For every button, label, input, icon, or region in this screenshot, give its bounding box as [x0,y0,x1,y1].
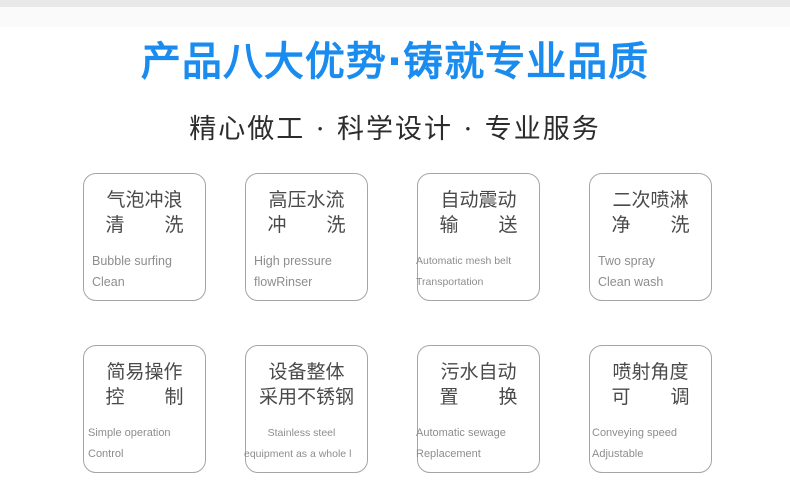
feature-row-bottom: 简易操作 控 制 Simple operation Control 设备整体 采… [83,345,707,473]
feature-title-cn-line1: 设备整体 [254,360,359,385]
feature-subtitle-en-line1: Bubble surfing [92,251,197,272]
feature-subtitle-en-line2: equipment as a whole l [244,444,359,465]
feature-card-simple-operation[interactable]: 简易操作 控 制 Simple operation Control [83,345,206,473]
feature-subtitle-en-line1: Simple operation [88,423,197,444]
page-subtitle: 精心做工 · 科学设计 · 专业服务 [0,112,790,148]
feature-title-cn: 高压水流 冲 洗 [254,188,359,238]
feature-title-cn: 喷射角度 可 调 [598,360,703,410]
page-title: 产品八大优势·铸就专业品质 [0,38,790,86]
feature-subtitle-en: Automatic mesh belt Transportation [416,251,531,293]
feature-row-top: 气泡冲浪 清 洗 Bubble surfing Clean 高压水流 冲 洗 [83,173,707,301]
feature-subtitle-en-line2: flowRinser [254,272,359,293]
feature-subtitle-en-line2: Transportation [416,272,531,293]
feature-subtitle-en-line2: Clean wash [598,272,703,293]
cn-char: 清 [106,213,125,238]
cn-char: 可 [612,385,631,410]
feature-title-cn: 设备整体 采用不锈钢 [254,360,359,410]
cn-char: 制 [164,385,183,410]
feature-subtitle-en-line2: Control [88,444,197,465]
feature-subtitle-en-line2: Replacement [416,444,531,465]
feature-title-cn-line2: 净 洗 [612,213,690,238]
feature-subtitle-en-line1: Conveying speed [592,423,703,444]
feature-title-cn-line2: 可 调 [612,385,690,410]
cn-char: 换 [498,385,517,410]
feature-title-cn-line1: 污水自动 [426,360,531,385]
feature-card-conveying-speed[interactable]: 喷射角度 可 调 Conveying speed Adjustable [589,345,712,473]
feature-title-cn: 简易操作 控 制 [92,360,197,410]
feature-subtitle-en: Two spray Clean wash [598,251,703,293]
cn-char: 洗 [164,213,183,238]
feature-title-cn: 污水自动 置 换 [426,360,531,410]
cn-char: 净 [612,213,631,238]
feature-card-high-pressure-flow[interactable]: 高压水流 冲 洗 High pressure flowRinser [245,173,368,301]
cn-char: 冲 [268,213,287,238]
feature-subtitle-en: Stainless steel equipment as a whole l [244,423,359,465]
top-gray-band [0,0,790,7]
feature-subtitle-en-line1: Two spray [598,251,703,272]
feature-title-cn-line1: 简易操作 [92,360,197,385]
feature-card-two-spray-clean-wash[interactable]: 二次喷淋 净 洗 Two spray Clean wash [589,173,712,301]
feature-subtitle-en-line1: Automatic sewage [416,423,531,444]
feature-title-cn-line2: 控 制 [106,385,184,410]
feature-title-cn-line1: 喷射角度 [598,360,703,385]
feature-card-automatic-mesh-belt[interactable]: 自动震动 输 送 Automatic mesh belt Transportat… [417,173,540,301]
feature-title-cn-line1: 气泡冲浪 [92,188,197,213]
feature-title-cn-line2: 采用不锈钢 [254,385,359,410]
top-light-band [0,7,790,27]
feature-subtitle-en: High pressure flowRinser [254,251,359,293]
feature-subtitle-en-line2: Clean [92,272,197,293]
feature-title-cn: 二次喷淋 净 洗 [598,188,703,238]
feature-title-cn: 气泡冲浪 清 洗 [92,188,197,238]
feature-title-cn-line2: 输 送 [440,213,518,238]
feature-subtitle-en: Conveying speed Adjustable [592,423,703,465]
cn-char: 送 [498,213,517,238]
cn-char: 置 [440,385,459,410]
cn-char: 洗 [670,213,689,238]
feature-subtitle-en: Simple operation Control [88,423,197,465]
feature-subtitle-en: Bubble surfing Clean [92,251,197,293]
feature-card-automatic-sewage[interactable]: 污水自动 置 换 Automatic sewage Replacement [417,345,540,473]
promo-feature-banner: 产品八大优势·铸就专业品质 精心做工 · 科学设计 · 专业服务 气泡冲浪 清 … [0,0,790,485]
feature-subtitle-en-line2: Adjustable [592,444,703,465]
feature-title-cn: 自动震动 输 送 [426,188,531,238]
cn-char: 洗 [326,213,345,238]
feature-title-cn-line1: 二次喷淋 [598,188,703,213]
cn-char: 控 [106,385,125,410]
feature-title-cn-line1: 自动震动 [426,188,531,213]
feature-title-cn-line1: 高压水流 [254,188,359,213]
feature-card-stainless-steel[interactable]: 设备整体 采用不锈钢 Stainless steel equipment as … [245,345,368,473]
feature-title-cn-line2: 清 洗 [106,213,184,238]
cn-char: 输 [440,213,459,238]
feature-subtitle-en-line1: Automatic mesh belt [416,251,531,272]
feature-subtitle-en-line1: High pressure [254,251,359,272]
feature-subtitle-en: Automatic sewage Replacement [416,423,531,465]
feature-subtitle-en-line1: Stainless steel [244,423,359,444]
feature-title-cn-line2: 冲 洗 [268,213,346,238]
feature-title-cn-line2: 置 换 [440,385,518,410]
feature-card-bubble-surfing[interactable]: 气泡冲浪 清 洗 Bubble surfing Clean [83,173,206,301]
cn-char: 调 [670,385,689,410]
